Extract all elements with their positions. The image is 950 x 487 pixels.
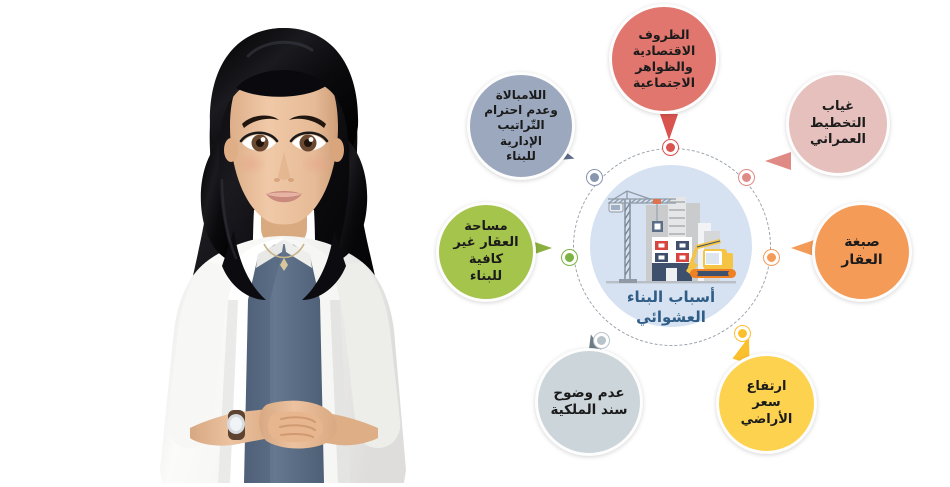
bubble-line: وعدم احترام	[476, 103, 566, 118]
bubble-line: سعر الأراضي	[725, 395, 808, 428]
bubble-urban-planning[interactable]: غياب التخطيط العمراني	[786, 72, 890, 176]
center-title-line-2: العشوائي	[606, 308, 736, 328]
bubble-line: الاجتماعية	[627, 75, 702, 91]
bubble-line: غياب	[804, 99, 872, 116]
node-economic-social[interactable]	[662, 139, 679, 156]
bubble-plot-area[interactable]: مساحة العقار غير كافية للبناء	[436, 202, 536, 302]
node-land-price[interactable]	[734, 325, 751, 342]
bubble-line: سند الملكية	[544, 402, 633, 419]
bubble-line: مساحة	[445, 219, 527, 236]
bubble-line: الاقتصادية	[627, 43, 702, 59]
bubble-line: عدم وضوح	[544, 385, 633, 402]
bubble-line: الظروف	[627, 27, 702, 43]
bubble-line: العقار	[835, 252, 888, 270]
slide-canvas: أسباب البناء العشوائي الظروف الاقتصادية …	[0, 0, 950, 483]
radial-bubble-diagram: أسباب البناء العشوائي الظروف الاقتصادية …	[420, 0, 950, 483]
bubble-line: التّراتيب الإدارية	[476, 118, 566, 149]
tail-urban-planning	[765, 152, 791, 170]
bubble-line: والظواهر	[627, 59, 702, 75]
bubble-line: العقار غير	[445, 235, 527, 252]
bubble-land-price[interactable]: ارتفاع سعر الأراضي	[716, 353, 817, 454]
node-urban-planning[interactable]	[738, 169, 755, 186]
bubble-line: ارتفاع	[725, 379, 808, 396]
bubble-line: للبناء	[476, 149, 566, 164]
node-indifference-admin[interactable]	[586, 169, 603, 186]
bubble-property-zoning[interactable]: صبغة العقار	[812, 202, 912, 302]
bubble-indifference-admin[interactable]: اللامبالاة وعدم احترام التّراتيب الإداري…	[467, 72, 575, 180]
bubble-line: التخطيط	[804, 116, 872, 133]
construction-site-illustration	[600, 175, 742, 295]
bubble-ownership-deed[interactable]: عدم وضوح سند الملكية	[535, 348, 643, 456]
center-title-line-1: أسباب البناء	[606, 288, 736, 308]
bubble-line: العمراني	[804, 132, 872, 149]
bubble-line: صبغة	[835, 234, 888, 252]
presenter-avatar	[118, 0, 448, 483]
node-plot-area[interactable]	[561, 249, 578, 266]
bubble-economic-social[interactable]: الظروف الاقتصادية والظواهر الاجتماعية	[609, 4, 719, 114]
node-ownership-deed[interactable]	[593, 332, 610, 349]
bubble-line: كافية للبناء	[445, 252, 527, 285]
center-title: أسباب البناء العشوائي	[606, 288, 736, 327]
node-property-zoning[interactable]	[763, 249, 780, 266]
bubble-line: اللامبالاة	[476, 88, 566, 103]
tail-economic-social	[660, 114, 678, 140]
